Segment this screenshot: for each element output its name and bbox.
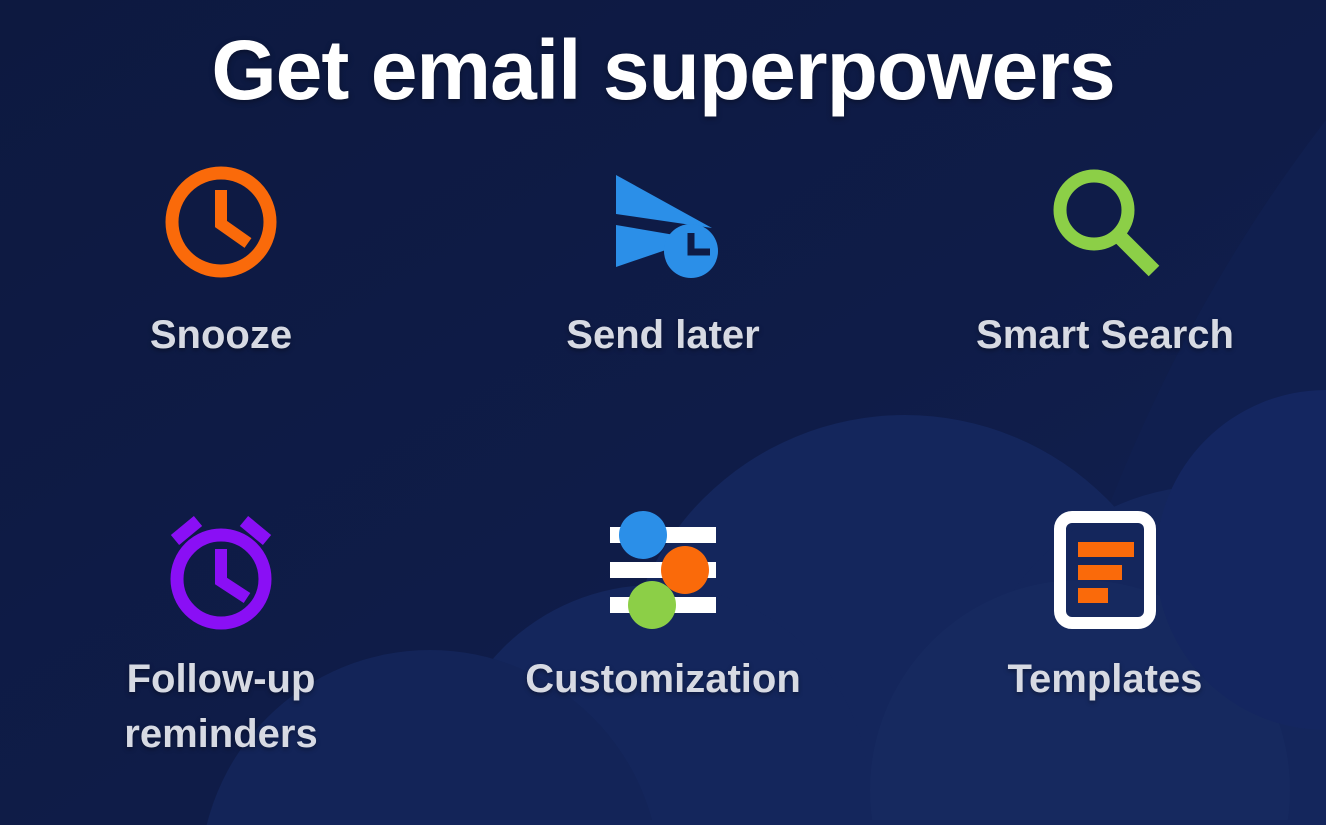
feature-item-send-later[interactable]: Send later — [442, 130, 884, 478]
send-later-icon — [597, 156, 729, 288]
feature-item-smart-search[interactable]: Smart Search — [884, 130, 1326, 478]
feature-label: Smart Search — [976, 308, 1234, 363]
page-title: Get email superpowers — [0, 0, 1326, 112]
alarm-clock-icon — [155, 504, 287, 636]
feature-label: Send later — [566, 308, 759, 363]
feature-item-templates[interactable]: Templates — [884, 478, 1326, 825]
feature-label: Templates — [1008, 652, 1203, 707]
template-document-icon — [1039, 504, 1171, 636]
feature-item-snooze[interactable]: Snooze — [0, 130, 442, 478]
feature-grid: Snooze Send later — [0, 112, 1326, 825]
feature-item-customization[interactable]: Customization — [442, 478, 884, 825]
clock-icon — [155, 156, 287, 288]
feature-item-follow-up-reminders[interactable]: Follow-up reminders — [0, 478, 442, 825]
feature-label: Customization — [525, 652, 801, 707]
feature-label: Snooze — [150, 308, 292, 363]
feature-label: Follow-up reminders — [71, 652, 371, 762]
sliders-icon — [597, 504, 729, 636]
feature-showcase-slide: Get email superpowers Snooze — [0, 0, 1326, 825]
magnifier-icon — [1039, 156, 1171, 288]
